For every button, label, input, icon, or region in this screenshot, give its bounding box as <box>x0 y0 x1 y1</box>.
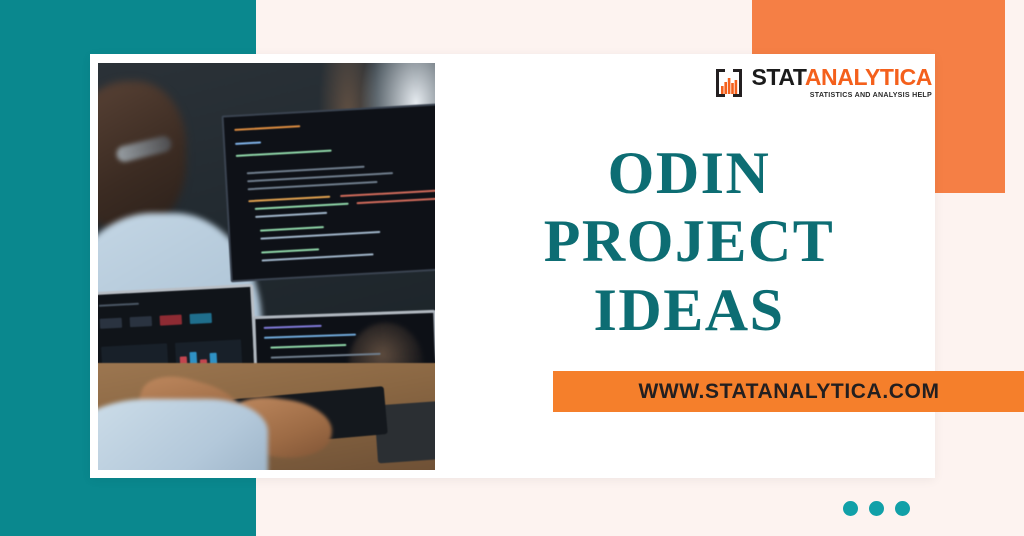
logo-word-analytica: ANALYTICA <box>805 64 932 90</box>
photo-sleeve <box>98 399 268 470</box>
bar-chart-logo-icon <box>714 67 744 99</box>
logo-word-row: STATANALYTICA <box>751 66 932 89</box>
dot-3 <box>895 501 910 516</box>
logo-wordmark: STATANALYTICA STATISTICS AND ANALYSIS HE… <box>751 66 932 99</box>
logo-tagline: STATISTICS AND ANALYSIS HELP <box>810 92 932 99</box>
hero-photo <box>98 63 435 470</box>
card-content: STATANALYTICA STATISTICS AND ANALYSIS HE… <box>443 54 935 478</box>
page-title: ODIN PROJECT IDEAS <box>443 139 935 344</box>
dot-2 <box>869 501 884 516</box>
decorative-dots <box>843 501 910 516</box>
website-url-text: WWW.STATANALYTICA.COM <box>638 380 939 404</box>
brand-logo: STATANALYTICA STATISTICS AND ANALYSIS HE… <box>714 66 932 99</box>
logo-word-stat: STAT <box>751 64 804 90</box>
promotional-banner: STATANALYTICA STATISTICS AND ANALYSIS HE… <box>0 0 1024 536</box>
title-line-2: PROJECT <box>443 207 935 275</box>
photo-monitor <box>222 103 435 283</box>
title-line-1: ODIN <box>443 139 935 207</box>
title-line-3: IDEAS <box>443 276 935 344</box>
dot-1 <box>843 501 858 516</box>
website-url-bar[interactable]: WWW.STATANALYTICA.COM <box>553 371 1024 412</box>
content-card: STATANALYTICA STATISTICS AND ANALYSIS HE… <box>90 54 935 478</box>
